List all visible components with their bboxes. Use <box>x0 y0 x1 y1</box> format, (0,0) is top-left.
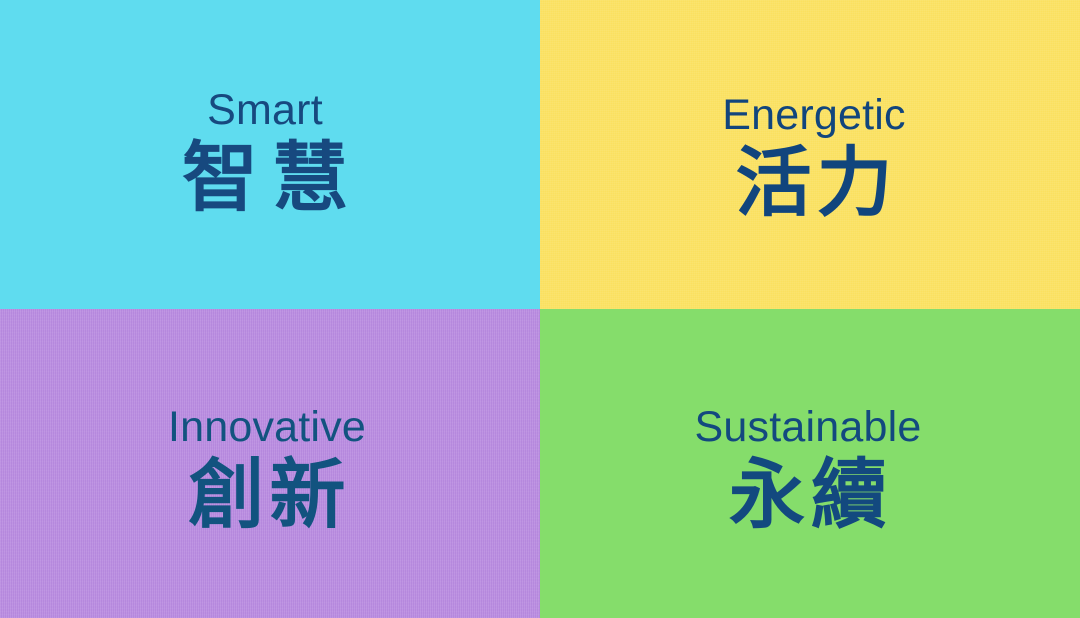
quadrant-innovative[interactable]: Innovative 創新 <box>0 309 540 618</box>
quadrant-sustainable[interactable]: Sustainable 永續 <box>540 309 1080 618</box>
quadrant-energetic[interactable]: Energetic 活力 <box>540 0 1080 309</box>
quadrant-innovative-label-en: Innovative <box>168 406 366 449</box>
quadrant-smart[interactable]: Smart 智慧 <box>0 0 540 309</box>
quadrant-innovative-text-block: Innovative 創新 <box>168 406 366 534</box>
quadrant-smart-label-en: Smart <box>207 89 323 132</box>
quadrant-sustainable-label-en: Sustainable <box>695 406 922 449</box>
quadrant-energetic-label-zh: 活力 <box>731 146 898 222</box>
quadrant-energetic-text-block: Energetic 活力 <box>722 94 905 222</box>
quadrant-sustainable-text-block: Sustainable 永續 <box>695 406 922 534</box>
brand-values-grid: Smart 智慧 Energetic 活力 Innovative 創新 Sust… <box>0 0 1080 618</box>
quadrant-energetic-label-en: Energetic <box>722 94 905 137</box>
quadrant-sustainable-label-zh: 永續 <box>723 458 893 534</box>
quadrant-smart-label-zh: 智慧 <box>168 141 362 217</box>
quadrant-innovative-label-zh: 創新 <box>184 458 351 534</box>
quadrant-smart-text-block: Smart 智慧 <box>168 89 362 217</box>
